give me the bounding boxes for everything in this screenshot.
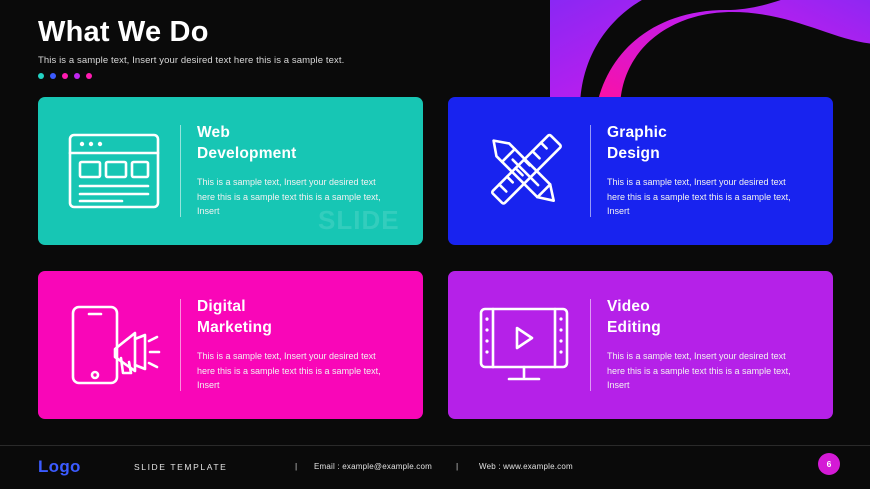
card-body: This is a sample text, Insert your desir…	[197, 175, 393, 219]
card-body: This is a sample text, Insert your desir…	[607, 175, 803, 219]
card-title-line2: Marketing	[197, 319, 272, 336]
dot-2	[50, 73, 56, 79]
card-text: Digital Marketing This is a sample text,…	[197, 297, 409, 393]
card-title-line1: Graphic	[607, 124, 667, 141]
card-web-development[interactable]: Web Development This is a sample text, I…	[38, 97, 423, 245]
dot-indicator-group	[38, 73, 344, 79]
logo[interactable]: Logo	[38, 457, 81, 477]
card-text: Graphic Design This is a sample text, In…	[607, 123, 819, 219]
card-text: Web Development This is a sample text, I…	[197, 123, 409, 219]
card-video-editing[interactable]: Video Editing This is a sample text, Ins…	[448, 271, 833, 419]
page-title: What We Do	[38, 16, 344, 49]
card-body: This is a sample text, Insert your desir…	[197, 349, 393, 393]
card-graphic-design[interactable]: Graphic Design This is a sample text, In…	[448, 97, 833, 245]
card-title-line2: Editing	[607, 319, 661, 336]
card-text: Video Editing This is a sample text, Ins…	[607, 297, 819, 393]
dot-4	[74, 73, 80, 79]
card-divider	[590, 125, 591, 217]
footer-separator-2: |	[456, 461, 458, 471]
slide-template-label: SLIDE TEMPLATE	[134, 462, 227, 472]
card-divider	[180, 125, 181, 217]
phone-megaphone-icon	[48, 301, 180, 389]
header: What We Do This is a sample text, Insert…	[38, 16, 344, 79]
card-title: Video Editing	[607, 297, 819, 339]
footer-email: Email : example@example.com	[314, 462, 432, 471]
dot-5	[86, 73, 92, 79]
card-title: Web Development	[197, 123, 409, 165]
cards-grid: Web Development This is a sample text, I…	[38, 97, 833, 419]
card-title: Graphic Design	[607, 123, 819, 165]
slide: What We Do This is a sample text, Insert…	[0, 0, 870, 489]
page-number-badge: 6	[818, 453, 840, 475]
dot-3	[62, 73, 68, 79]
page-subtitle: This is a sample text, Insert your desir…	[38, 55, 344, 66]
dot-1	[38, 73, 44, 79]
card-divider	[180, 299, 181, 391]
decorative-gradient-blob	[550, 0, 870, 110]
card-divider	[590, 299, 591, 391]
footer-web: Web : www.example.com	[479, 462, 573, 471]
card-title-line1: Digital	[197, 298, 246, 315]
browser-window-icon	[48, 129, 180, 213]
ruler-pencil-icon	[458, 125, 590, 217]
card-title-line2: Development	[197, 145, 297, 162]
monitor-play-icon	[458, 303, 590, 387]
card-title: Digital Marketing	[197, 297, 409, 339]
footer: Logo SLIDE TEMPLATE | Email : example@ex…	[0, 445, 870, 489]
footer-separator-1: |	[295, 461, 297, 471]
card-title-line2: Design	[607, 145, 660, 162]
card-title-line1: Web	[197, 124, 230, 141]
footer-divider	[0, 445, 870, 446]
card-title-line1: Video	[607, 298, 650, 315]
card-body: This is a sample text, Insert your desir…	[607, 349, 803, 393]
card-digital-marketing[interactable]: Digital Marketing This is a sample text,…	[38, 271, 423, 419]
